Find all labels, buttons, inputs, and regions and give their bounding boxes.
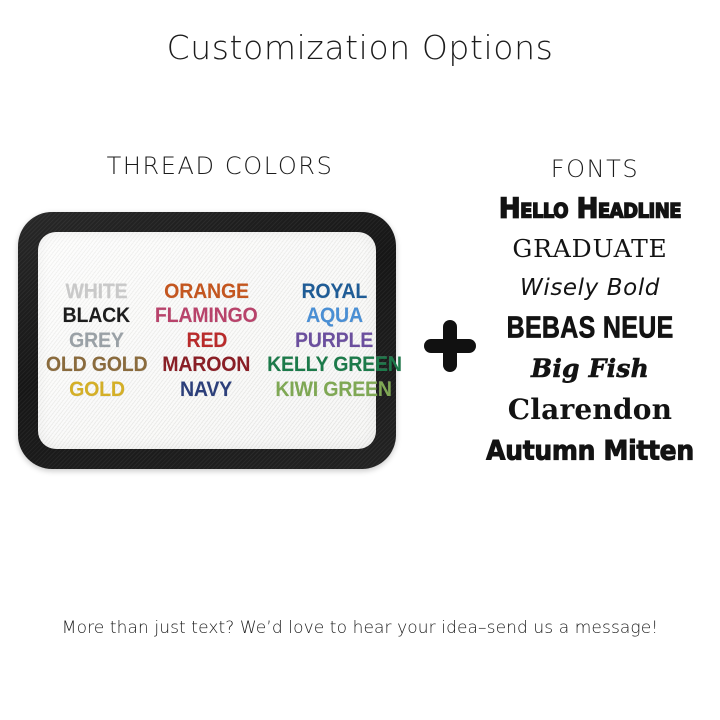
thread-color-maroon: MAROON [162,353,250,377]
thread-color-old-gold: OLD GOLD [46,353,148,377]
thread-color-aqua: AQUA [306,304,363,328]
patch-fabric-area: WHITEBLACKGREYOLD GOLDGOLD ORANGEFLAMING… [38,232,376,449]
font-sample-big-fish: Big Fish [531,356,649,382]
thread-color-kelly-green: KELLY GREEN [267,353,402,377]
footer-note: More than just text? We’d love to hear y… [0,618,720,638]
font-sample-autumn-mitten: Autumn Mitten [486,437,694,465]
thread-color-purple: PURPLE [295,329,373,353]
thread-color-kiwi-green: KIWI GREEN [276,378,392,402]
font-sample-graduate: GRADUATE [512,237,667,263]
thread-colors-heading: THREAD COLORS [60,152,380,180]
thread-color-white: WHITE [66,280,128,304]
thread-color-patch: WHITEBLACKGREYOLD GOLDGOLD ORANGEFLAMING… [18,212,396,469]
plus-vertical-bar [443,320,457,372]
thread-color-royal: ROYAL [301,280,367,304]
font-sample-bebas-neue: BEBAS NEUE [507,312,674,344]
font-sample-clarendon: Clarendon [508,395,672,424]
font-sample-list: Hello HeadlineGRADUATEWisely BoldBEBAS N… [462,196,718,464]
color-column-1: WHITEBLACKGREYOLD GOLDGOLD [42,280,151,402]
thread-color-red: RED [186,329,227,353]
color-column-2: ORANGEFLAMINGOREDMAROONNAVY [151,280,261,402]
thread-color-flamingo: FLAMINGO [155,304,258,328]
thread-color-orange: ORANGE [164,280,249,304]
fonts-heading: FONTS [480,155,710,183]
thread-color-black: BLACK [63,304,130,328]
thread-color-navy: NAVY [180,378,232,402]
font-sample-wisely-bold: Wisely Bold [520,276,660,300]
font-sample-hello-headline: Hello Headline [499,195,681,224]
thread-color-gold: GOLD [69,378,125,402]
color-column-3: ROYALAQUAPURPLEKELLY GREENKIWI GREEN [262,280,407,402]
page-title: Customization Options [0,28,720,67]
thread-color-grey: GREY [69,329,124,353]
